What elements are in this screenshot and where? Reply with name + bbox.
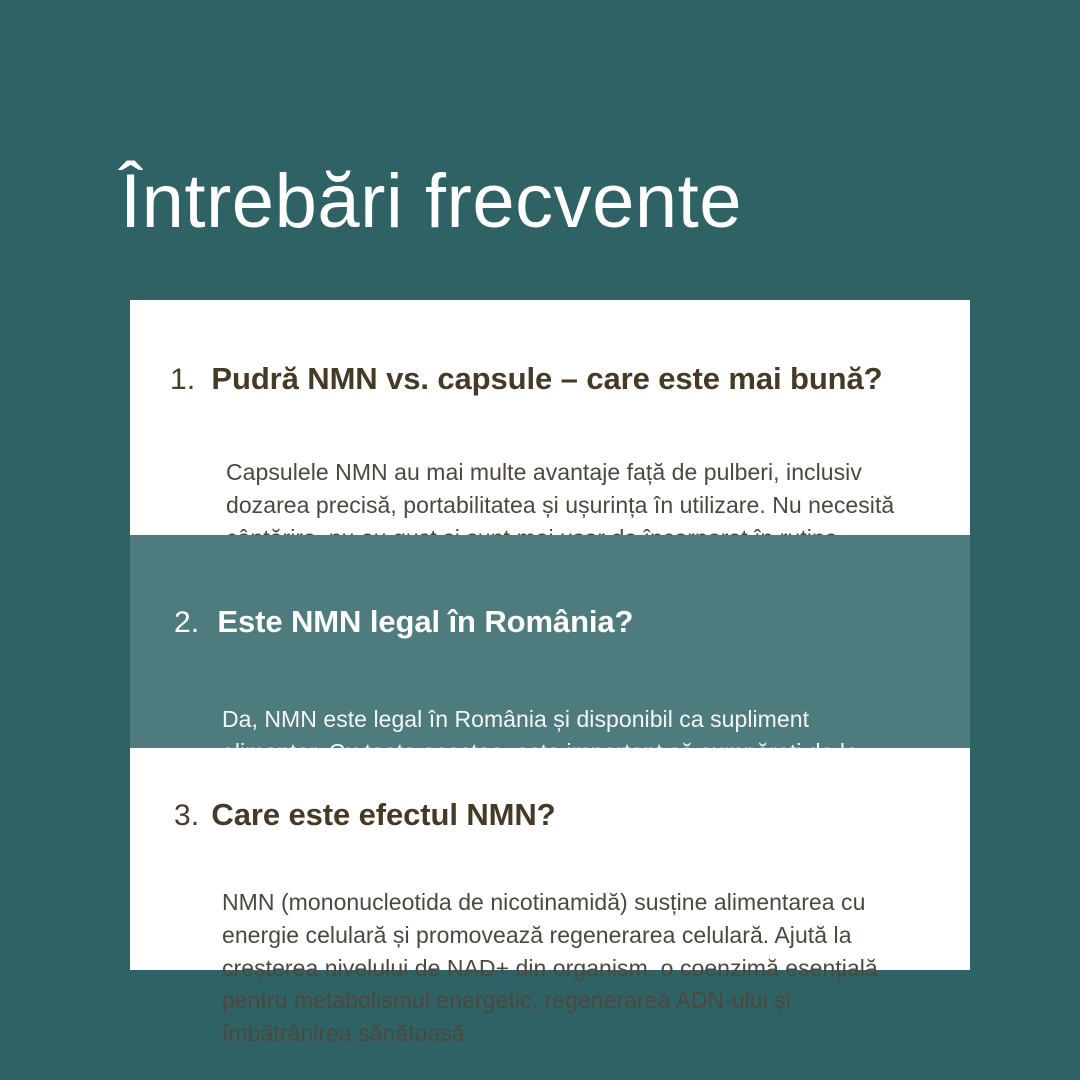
faq-item-number: 1. [170,362,195,398]
faq-item-number: 2. [174,605,199,641]
faq-question-text: Este NMN legal în România? [217,603,942,641]
faq-question-row: 1. Pudră NMN vs. capsule – care este mai… [130,334,970,423]
faq-item-number: 3. [174,798,199,834]
faq-question-row: 3. Care este efectul NMN? [130,770,970,859]
faq-answer-text: NMN (mononucleotida de nicotinamidă) sus… [130,882,970,1049]
faq-item-3[interactable]: 3. Care este efectul NMN? NMN (mononucle… [130,748,970,970]
faq-list: 1. Pudră NMN vs. capsule – care este mai… [130,300,970,970]
page-title: Întrebări frecvente [120,159,980,244]
faq-question-row: 2. Este NMN legal în România? [130,577,970,666]
faq-item-2[interactable]: 2. Este NMN legal în România? Da, NMN es… [130,535,970,748]
faq-infographic-page: Întrebări frecvente 1. Pudră NMN vs. cap… [0,0,1080,1080]
faq-question-text: Care este efectul NMN? [211,796,942,834]
faq-item-1[interactable]: 1. Pudră NMN vs. capsule – care este mai… [130,300,970,535]
faq-question-text: Pudră NMN vs. capsule – care este mai bu… [211,360,942,398]
